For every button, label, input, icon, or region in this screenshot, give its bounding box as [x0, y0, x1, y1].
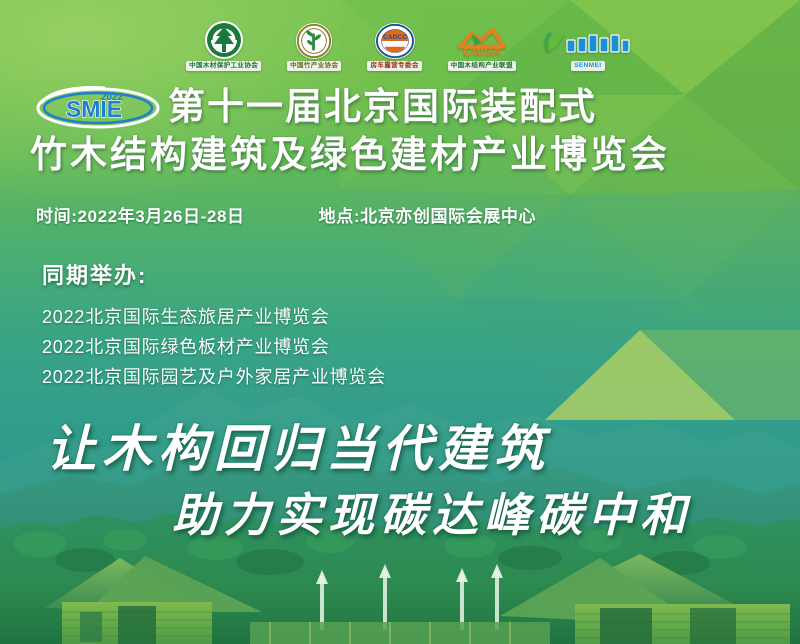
event-meta: 时间:2022年3月26日-28日 地点:北京亦创国际会展中心 [36, 202, 776, 227]
china-wood-protection-industry-association-logo: 中国木材保护工业协会 [186, 11, 261, 71]
leaf-sprout-icon [542, 26, 634, 60]
slogan-line-2: 助力实现碳达峰碳中和 [172, 486, 692, 544]
logo-caption: 房车露营专委会 [367, 61, 421, 71]
event-venue: 地点:北京亦创国际会展中心 [319, 202, 536, 227]
slogan-line-1: 让木构回归当代建筑 [46, 418, 550, 480]
senmei-logo: SENMEI [542, 11, 634, 71]
smie-oval-logo: 2022 SMIE [34, 84, 162, 130]
concurrent-event-item: 2022北京国际绿色板材产业博览会 [42, 332, 602, 362]
event-venue-label: 地点: [319, 207, 360, 226]
concurrent-events-heading: 同期举办: [42, 258, 602, 290]
oval-seal-icon: CADCC [374, 22, 416, 60]
svg-text:CADCC: CADCC [383, 34, 407, 41]
smie-abbr: SMIE [66, 96, 122, 122]
event-date-value: 2022年3月26日-28日 [77, 207, 244, 226]
event-venue-value: 北京亦创国际会展中心 [360, 207, 536, 226]
cadcc-rv-camping-committee-logo: CADCC 房车露营专委会 [367, 11, 421, 71]
headline-block: 2022 SMIE 第十一届北京国际装配式 竹木结构建筑及绿色建材产业博览会 [0, 84, 800, 180]
event-date: 时间:2022年3月26日-28日 [36, 202, 245, 227]
concurrent-events: 同期举办: 2022北京国际生态旅居产业博览会 2022北京国际绿色板材产业博览… [42, 258, 602, 392]
concurrent-event-item: 2022北京国际园艺及户外家居产业博览会 [42, 362, 602, 392]
svg-text:CWSA: CWSA [463, 44, 501, 58]
cwsa-wood-structure-alliance-logo: CWSA 中国木结构产业联盟 [448, 11, 516, 71]
tree-in-shield-icon [204, 20, 244, 60]
expo-poster: 中国木材保护工业协会 中国竹产业协会 [0, 0, 800, 644]
page-title-line-2: 竹木结构建筑及绿色建材产业博览会 [0, 130, 800, 180]
house-roof-icon: CWSA [454, 22, 510, 60]
logo-caption: 中国竹产业协会 [287, 61, 341, 71]
concurrent-event-item: 2022北京国际生态旅居产业博览会 [42, 302, 602, 332]
wooden-cabin-houses [0, 534, 800, 644]
event-date-label: 时间: [36, 207, 77, 226]
organizer-logo-strip: 中国木材保护工业协会 中国竹产业协会 [0, 8, 800, 74]
logo-caption: 中国木材保护工业协会 [186, 61, 261, 71]
bamboo-association-logo: 中国竹产业协会 [287, 11, 341, 71]
bamboo-seal-icon [295, 22, 333, 60]
logo-caption: SENMEI [571, 61, 604, 71]
page-title-line-1: 第十一届北京国际装配式 [168, 84, 597, 130]
logo-caption: 中国木结构产业联盟 [448, 61, 516, 71]
headline-row-1: 2022 SMIE 第十一届北京国际装配式 [0, 84, 800, 130]
